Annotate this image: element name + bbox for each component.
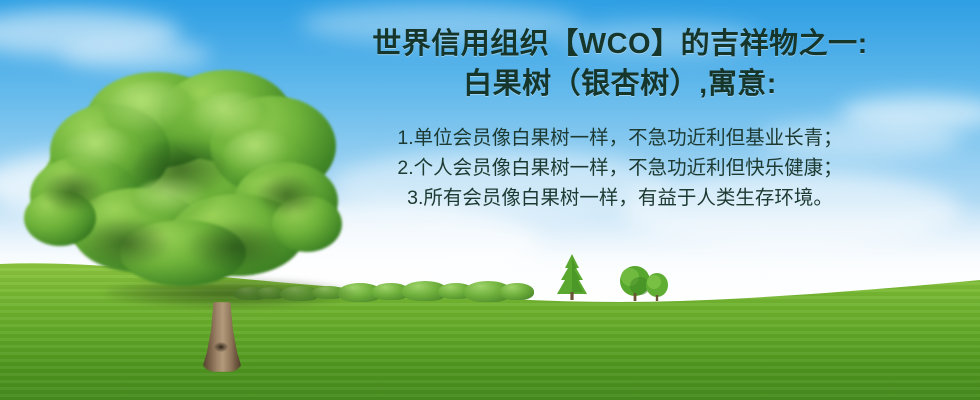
wco-mascot-banner: 世界信用组织【WCO】的吉祥物之一: 白果树（银杏树）,寓意: 1.单位会员像白… [0, 0, 980, 400]
banner-copy: 世界信用组织【WCO】的吉祥物之一: 白果树（银杏树）,寓意: 1.单位会员像白… [300, 24, 940, 213]
list-item: 3.所有会员像白果树一样，有益于人类生存环境。 [300, 183, 940, 213]
list-item: 2.个人会员像白果树一样，不急功近利但快乐健康； [300, 153, 940, 183]
list-item: 1.单位会员像白果树一样，不急功近利但基业长青； [300, 123, 940, 153]
banner-title-line-2: 白果树（银杏树）,寓意: [300, 64, 940, 104]
banner-bullet-list: 1.单位会员像白果树一样，不急功近利但基业长青； 2.个人会员像白果树一样，不急… [300, 123, 940, 213]
trunk-knot [214, 342, 228, 352]
ginkgo-tree [20, 70, 340, 300]
round-tree-small-icon [644, 272, 670, 302]
cloud-icon [60, 40, 210, 70]
tree-canopy [20, 70, 340, 285]
conifer-tree-icon [552, 252, 592, 302]
banner-title-line-1: 世界信用组织【WCO】的吉祥物之一: [300, 24, 940, 64]
